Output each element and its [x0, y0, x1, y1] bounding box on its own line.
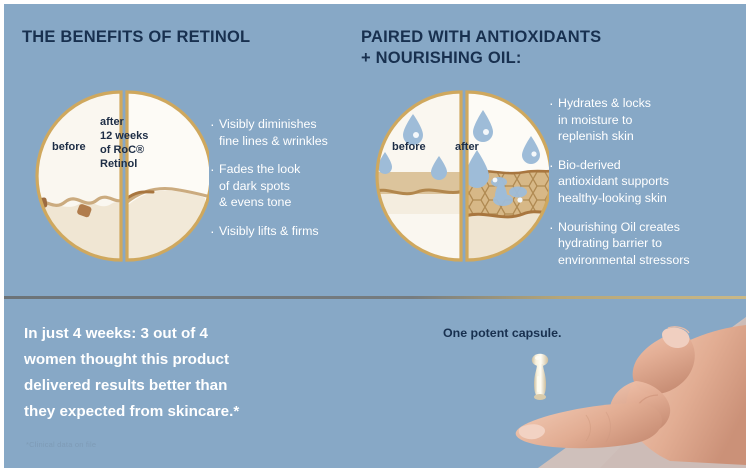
list-item: Visibly lifts & firms [210, 223, 358, 240]
retinol-benefits-infographic: THE BENEFITS OF RETINOL PAIRED WITH ANTI… [0, 0, 750, 472]
hand-holding-capsule-photo [440, 299, 746, 468]
frame-edge-bottom [0, 468, 750, 472]
antioxidant-before-after-diagram [373, 88, 549, 264]
frame-edge-left [0, 0, 4, 472]
list-item: Fades the look of dark spots & evens ton… [210, 161, 358, 211]
left-column-heading: THE BENEFITS OF RETINOL [22, 27, 250, 48]
right-column-heading: PAIRED WITH ANTIOXIDANTS + NOURISHING OI… [361, 27, 601, 69]
capsule-caption: One potent capsule. [443, 326, 561, 340]
clinical-claim-statement: In just 4 weeks: 3 out of 4 women though… [24, 321, 314, 426]
list-item: Nourishing Oil creates hydrating barrier… [549, 219, 744, 269]
frame-edge-right [746, 0, 750, 472]
list-item: Hydrates & locks in moisture to replenis… [549, 95, 744, 145]
retinol-benefits-list: Visibly diminishes fine lines & wrinkles… [210, 116, 358, 252]
footnote-disclaimer: *Clinical data on file [26, 440, 96, 449]
list-item: Bio-derived antioxidant supports healthy… [549, 157, 744, 207]
list-item: Visibly diminishes fine lines & wrinkles [210, 116, 358, 149]
frame-edge-top [0, 0, 750, 4]
antioxidant-benefits-list: Hydrates & locks in moisture to replenis… [549, 95, 744, 280]
retinol-before-after-diagram [33, 88, 209, 264]
